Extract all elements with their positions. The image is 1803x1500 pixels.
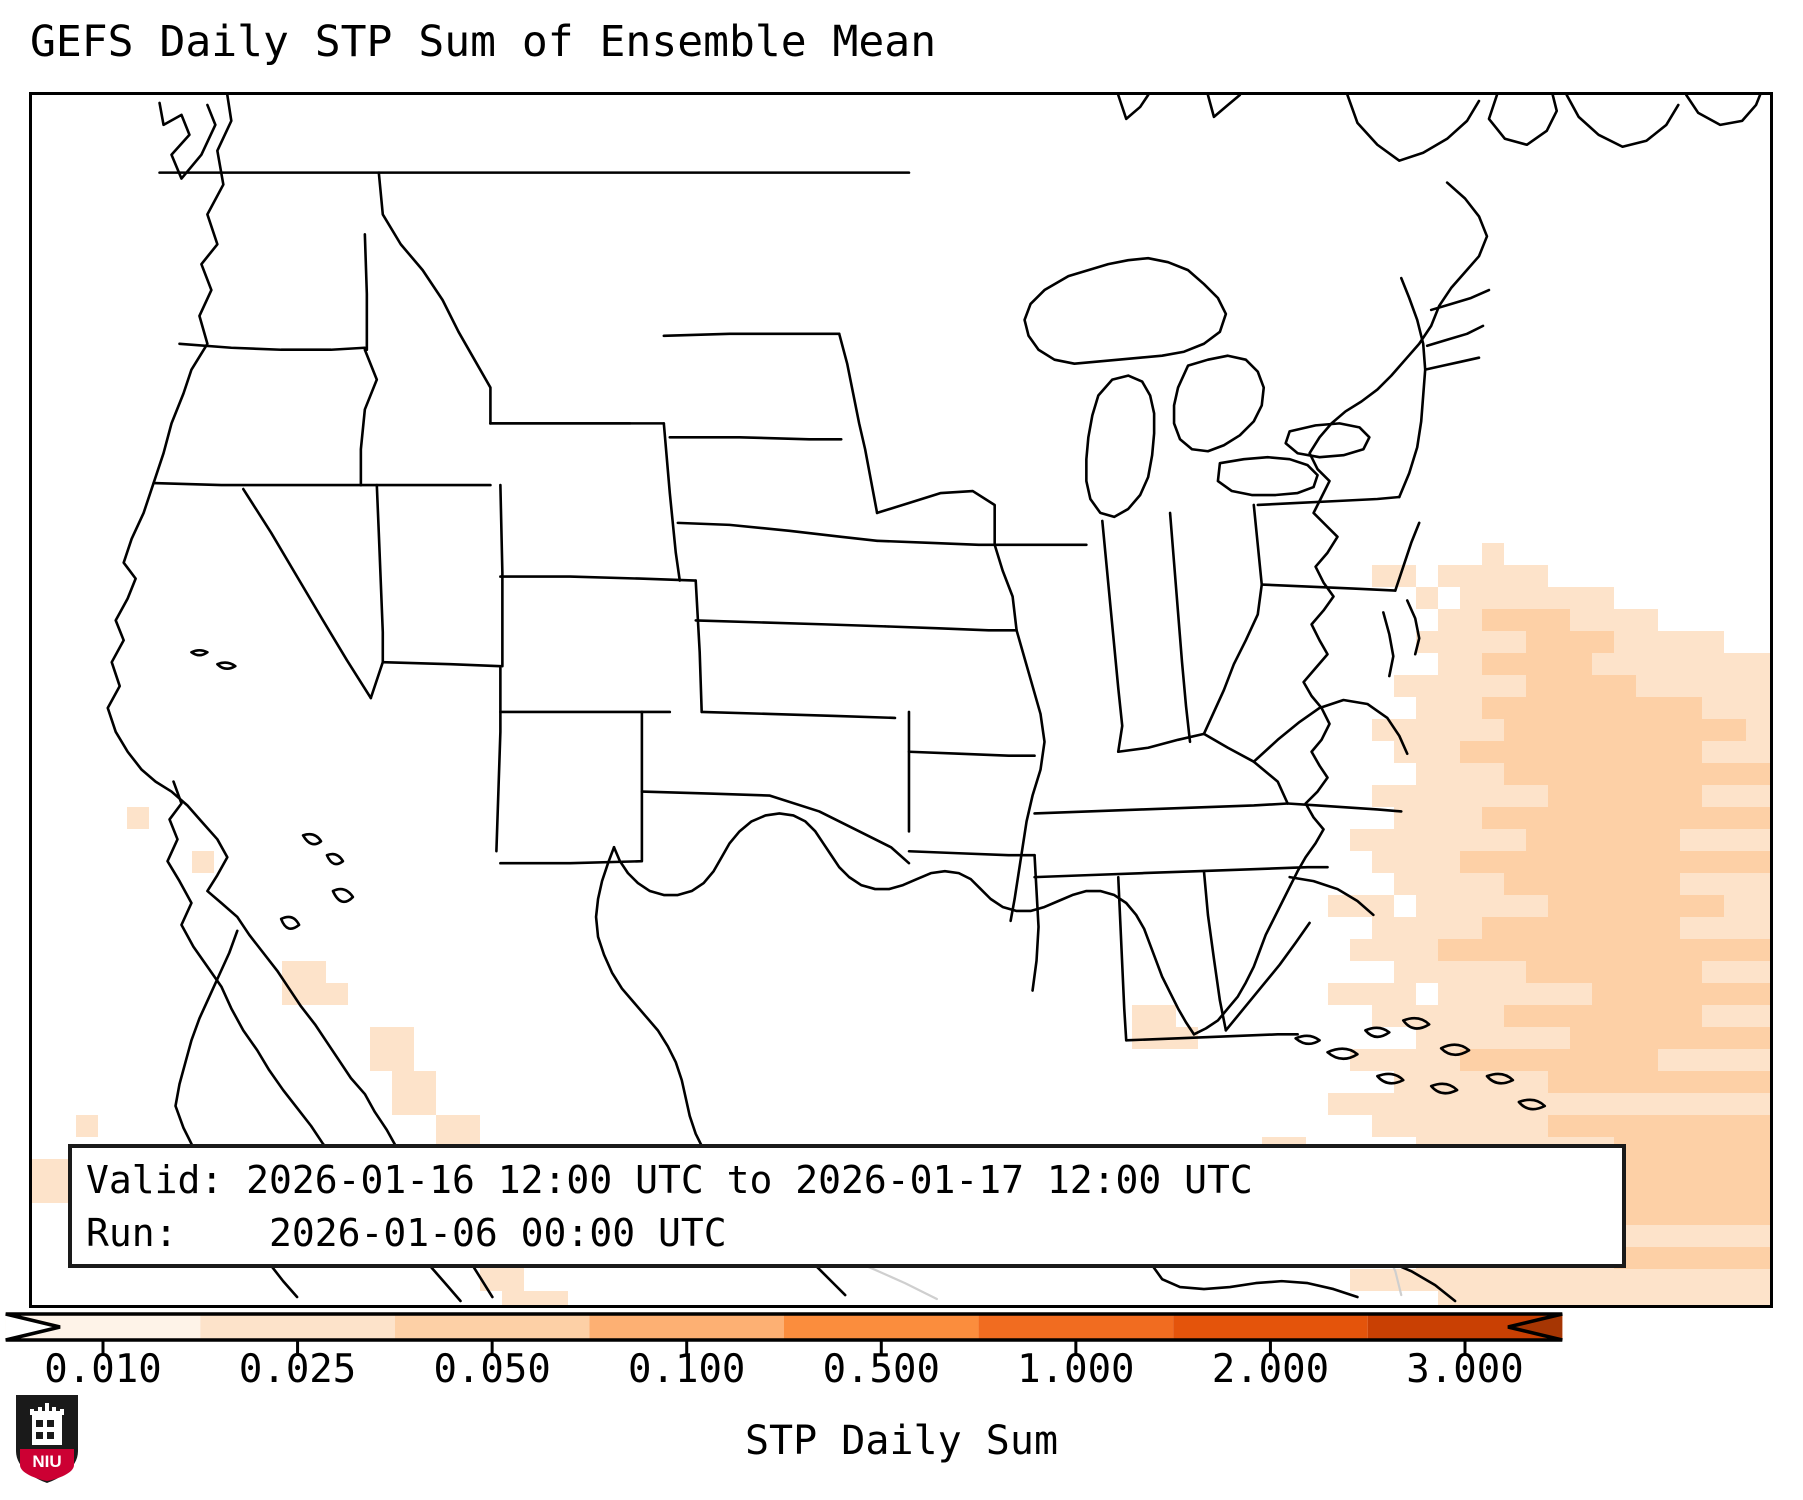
state-border-ga-fl <box>1126 1034 1297 1040</box>
pacific-coastline <box>108 95 493 1297</box>
canada-east-coast <box>1118 95 1760 161</box>
colorbar-axis-label: STP Daily Sum <box>0 1418 1803 1464</box>
state-border-ky-tn <box>1035 803 1288 813</box>
valid-run-annotation-box: Valid: 2026-01-16 12:00 UTC to 2026-01-1… <box>68 1144 1626 1268</box>
state-border-or-ca <box>154 483 361 485</box>
state-border-mt-nd <box>664 334 839 336</box>
lake-huron <box>1174 356 1264 452</box>
state-border-az-ut <box>383 662 501 666</box>
state-border-wy-co <box>500 577 695 581</box>
bahamas-islands <box>1296 1018 1545 1109</box>
state-border-ar-la <box>909 851 1035 855</box>
state-border-al-ga <box>1204 871 1226 1030</box>
weather-map-figure: GEFS Daily STP Sum of Ensemble Mean <box>0 0 1803 1500</box>
colorbar-tick-label: 0.050 <box>433 1348 550 1392</box>
colorbar-tick-label: 1.000 <box>1017 1348 1134 1392</box>
state-border-nm-tx <box>500 712 642 863</box>
niu-logo-text: NIU <box>32 1452 61 1471</box>
state-border-wy-ne-sd <box>664 423 680 580</box>
channel-islands <box>191 650 235 668</box>
map-axes[interactable] <box>29 92 1773 1308</box>
state-border-va-wv-md <box>1254 700 1407 762</box>
colorbar-tick-label: 2.000 <box>1212 1348 1329 1392</box>
annotation-valid-line: Valid: 2026-01-16 12:00 UTC to 2026-01-1… <box>86 1154 1608 1207</box>
page-title: GEFS Daily STP Sum of Ensemble Mean <box>30 16 936 68</box>
colorbar-tick-label: 3.000 <box>1406 1348 1523 1392</box>
state-border-nj-de-md <box>1383 523 1419 676</box>
state-border-mo-ar <box>909 752 1035 756</box>
colorbar-tick-label: 0.500 <box>823 1348 940 1392</box>
state-border-ks-ok <box>702 712 895 718</box>
state-border-sd-ne <box>678 523 877 541</box>
geography-layer <box>32 95 1770 1305</box>
state-border-co-ks <box>696 581 702 712</box>
colorbar-band <box>589 1314 784 1340</box>
colorbar-tick-label: 0.010 <box>44 1348 161 1392</box>
state-border-sc-nc <box>1290 877 1374 915</box>
state-border-nv-ut <box>377 485 383 662</box>
colorbar-tick-label: 0.025 <box>239 1348 356 1392</box>
state-border-ne-ks <box>696 620 885 626</box>
state-border-mn-ia <box>877 541 995 545</box>
state-border-il-in <box>1102 521 1122 752</box>
state-border-id-mt <box>379 173 491 424</box>
state-border-ga-sc-nc <box>1226 923 1310 1030</box>
niu-logo-svg: NIU <box>14 1393 80 1485</box>
state-border-nv-az <box>371 662 383 698</box>
lake-erie <box>1218 457 1318 495</box>
state-border-wa-or <box>179 344 364 350</box>
state-border-oh-pa-wv <box>1204 505 1262 734</box>
state-border-nd-mn <box>839 334 877 513</box>
colorbar-band <box>979 1314 1174 1340</box>
map-clip <box>32 95 1770 1305</box>
colorbar[interactable]: 0.0100.0250.0500.1000.5001.0002.0003.000 <box>0 1312 1803 1372</box>
florida-gulf-coast <box>614 813 1194 1034</box>
state-border-tn-ms-al-ga <box>1035 867 1328 877</box>
state-border-ky-va <box>1204 734 1288 804</box>
colorbar-tick-label: 0.100 <box>628 1348 745 1392</box>
state-border-nc-va <box>1288 803 1402 811</box>
annotation-run-line: Run: 2026-01-06 00:00 UTC <box>86 1207 1608 1260</box>
colorbar-bands <box>6 1314 1563 1340</box>
geography-svg <box>32 95 1770 1305</box>
state-border-oh-ky <box>1118 734 1204 752</box>
atlantic-coastline <box>1194 183 1487 1035</box>
state-border-pa-ny <box>1258 497 1400 505</box>
niu-logo: NIU <box>14 1393 80 1485</box>
lake-superior <box>1025 258 1226 363</box>
state-border-la-ms <box>1033 855 1039 990</box>
baja-islands <box>281 834 353 929</box>
colorbar-band <box>1173 1314 1368 1340</box>
state-border-az-nm <box>496 666 500 851</box>
state-border-ok-tx <box>642 792 909 864</box>
state-border-nd-sd <box>670 437 841 439</box>
state-border-ia-mo <box>885 626 1017 630</box>
state-border-ny-vt-nh-me <box>1399 278 1489 497</box>
state-border-wa-id <box>365 234 367 349</box>
state-border-or-id <box>361 350 377 485</box>
state-border-ca-nv <box>243 489 371 698</box>
colorbar-band <box>395 1314 590 1340</box>
colorbar-band <box>784 1314 979 1340</box>
lake-michigan <box>1086 376 1154 517</box>
colorbar-band <box>200 1314 395 1340</box>
state-border-mn-wi <box>877 491 995 545</box>
state-border-in-oh <box>1170 513 1190 742</box>
state-border-ia-wi-il <box>995 545 1045 921</box>
